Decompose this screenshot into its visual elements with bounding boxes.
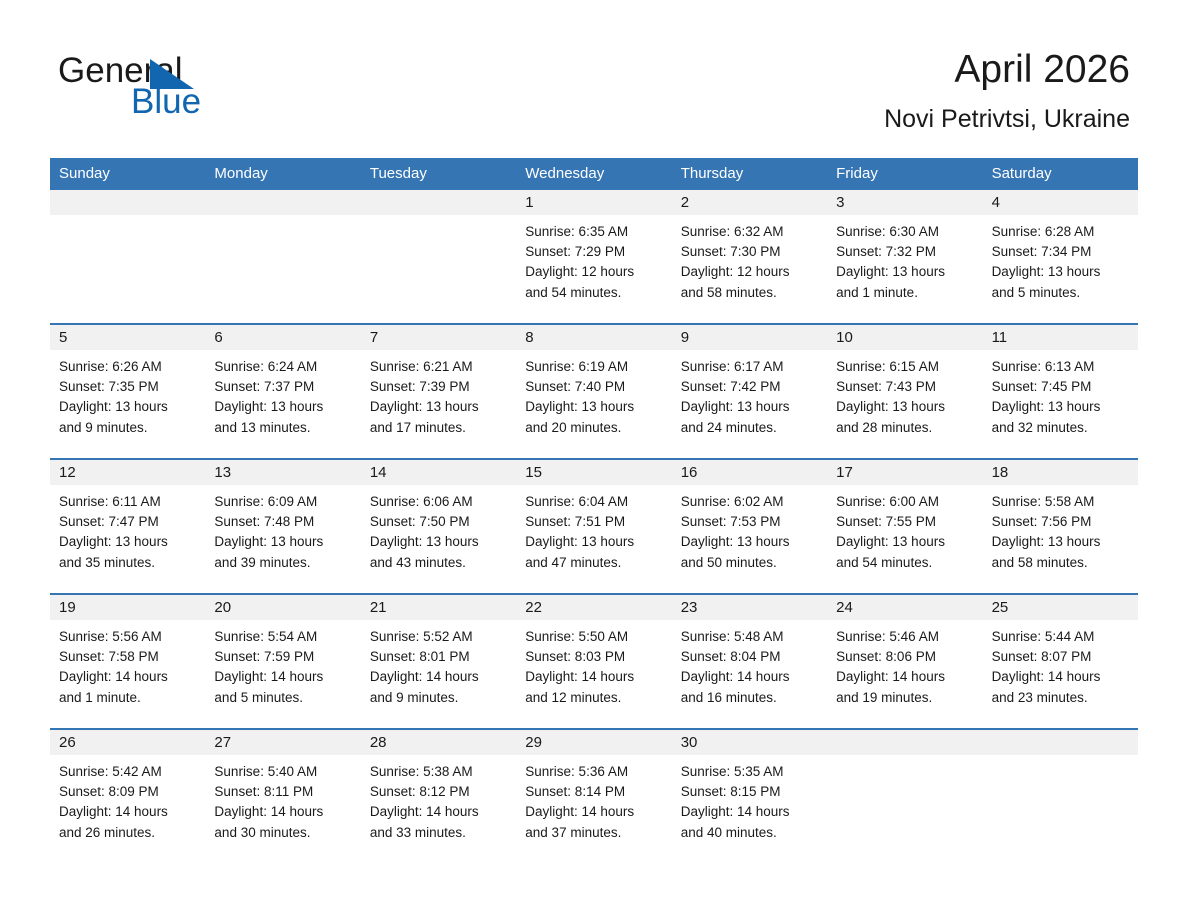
day-detail-line: Sunrise: 5:56 AM — [59, 627, 196, 647]
day-details: Sunrise: 5:46 AMSunset: 8:06 PMDaylight:… — [827, 620, 982, 708]
day-number-band: 18 — [983, 460, 1138, 485]
day-details: Sunrise: 5:58 AMSunset: 7:56 PMDaylight:… — [983, 485, 1138, 573]
day-detail-line: and 33 minutes. — [370, 823, 507, 843]
day-detail-line: Sunrise: 6:09 AM — [214, 492, 351, 512]
calendar-day-cell-empty — [361, 190, 516, 323]
day-detail-line: Sunset: 8:11 PM — [214, 782, 351, 802]
weekday-header-wednesday: Wednesday — [516, 158, 671, 188]
day-details: Sunrise: 5:56 AMSunset: 7:58 PMDaylight:… — [50, 620, 205, 708]
calendar-day-cell[interactable]: 27Sunrise: 5:40 AMSunset: 8:11 PMDayligh… — [205, 730, 360, 863]
day-detail-line: Daylight: 13 hours — [992, 397, 1129, 417]
day-details: Sunrise: 6:06 AMSunset: 7:50 PMDaylight:… — [361, 485, 516, 573]
weekday-header-monday: Monday — [205, 158, 360, 188]
day-number: 11 — [992, 329, 1008, 347]
title-block: April 2026 Novi Petrivtsi, Ukraine — [884, 46, 1130, 134]
day-number-band: 8 — [516, 325, 671, 350]
day-number: 20 — [214, 599, 231, 617]
brand-logo[interactable]: General Blue — [58, 52, 298, 132]
day-number: 7 — [370, 329, 378, 347]
day-detail-line: Sunset: 7:32 PM — [836, 242, 973, 262]
calendar-day-cell[interactable]: 20Sunrise: 5:54 AMSunset: 7:59 PMDayligh… — [205, 595, 360, 728]
day-number-band: 25 — [983, 595, 1138, 620]
day-detail-line: Daylight: 13 hours — [681, 532, 818, 552]
day-detail-line: and 13 minutes. — [214, 418, 351, 438]
day-number: 18 — [992, 464, 1009, 482]
day-number-band: 13 — [205, 460, 360, 485]
day-number-band: 16 — [672, 460, 827, 485]
day-number: 14 — [370, 464, 387, 482]
day-details: Sunrise: 6:04 AMSunset: 7:51 PMDaylight:… — [516, 485, 671, 573]
day-detail-line: Sunrise: 6:17 AM — [681, 357, 818, 377]
day-detail-line: and 1 minute. — [836, 283, 973, 303]
day-detail-line: Sunrise: 6:24 AM — [214, 357, 351, 377]
day-details: Sunrise: 5:54 AMSunset: 7:59 PMDaylight:… — [205, 620, 360, 708]
day-number-band: 1 — [516, 190, 671, 215]
calendar-day-cell[interactable]: 13Sunrise: 6:09 AMSunset: 7:48 PMDayligh… — [205, 460, 360, 593]
day-number-band: 29 — [516, 730, 671, 755]
calendar-day-cell[interactable]: 29Sunrise: 5:36 AMSunset: 8:14 PMDayligh… — [516, 730, 671, 863]
calendar-day-cell[interactable]: 28Sunrise: 5:38 AMSunset: 8:12 PMDayligh… — [361, 730, 516, 863]
calendar-week-row: 19Sunrise: 5:56 AMSunset: 7:58 PMDayligh… — [50, 593, 1138, 728]
calendar-day-cell[interactable]: 11Sunrise: 6:13 AMSunset: 7:45 PMDayligh… — [983, 325, 1138, 458]
day-detail-line: Sunset: 7:50 PM — [370, 512, 507, 532]
day-details: Sunrise: 6:17 AMSunset: 7:42 PMDaylight:… — [672, 350, 827, 438]
day-number-band: 30 — [672, 730, 827, 755]
day-detail-line: Sunset: 7:30 PM — [681, 242, 818, 262]
day-detail-line: Sunset: 7:48 PM — [214, 512, 351, 532]
day-detail-line: Sunrise: 6:30 AM — [836, 222, 973, 242]
day-number: 28 — [370, 734, 387, 752]
day-detail-line: and 40 minutes. — [681, 823, 818, 843]
day-detail-line: Sunset: 8:04 PM — [681, 647, 818, 667]
day-detail-line: Daylight: 14 hours — [681, 802, 818, 822]
day-detail-line: Sunset: 7:51 PM — [525, 512, 662, 532]
day-detail-line: Sunrise: 6:21 AM — [370, 357, 507, 377]
day-detail-line: and 54 minutes. — [836, 553, 973, 573]
day-detail-line: and 47 minutes. — [525, 553, 662, 573]
calendar-day-cell[interactable]: 9Sunrise: 6:17 AMSunset: 7:42 PMDaylight… — [672, 325, 827, 458]
day-details: Sunrise: 5:44 AMSunset: 8:07 PMDaylight:… — [983, 620, 1138, 708]
day-detail-line: Daylight: 14 hours — [525, 667, 662, 687]
day-detail-line: Sunrise: 5:38 AM — [370, 762, 507, 782]
day-number-band: 2 — [672, 190, 827, 215]
day-details: Sunrise: 6:11 AMSunset: 7:47 PMDaylight:… — [50, 485, 205, 573]
day-details: Sunrise: 5:35 AMSunset: 8:15 PMDaylight:… — [672, 755, 827, 843]
day-number-band — [827, 730, 982, 755]
day-number-band: 21 — [361, 595, 516, 620]
day-number: 19 — [59, 599, 76, 617]
calendar-day-cell[interactable]: 12Sunrise: 6:11 AMSunset: 7:47 PMDayligh… — [50, 460, 205, 593]
day-detail-line: Sunrise: 5:40 AM — [214, 762, 351, 782]
day-number-band: 5 — [50, 325, 205, 350]
day-details: Sunrise: 5:42 AMSunset: 8:09 PMDaylight:… — [50, 755, 205, 843]
day-number-band: 11 — [983, 325, 1138, 350]
day-detail-line: Daylight: 13 hours — [992, 262, 1129, 282]
calendar-week-grid: 1Sunrise: 6:35 AMSunset: 7:29 PMDaylight… — [50, 190, 1138, 323]
day-detail-line: Daylight: 14 hours — [992, 667, 1129, 687]
day-detail-line: Sunrise: 6:02 AM — [681, 492, 818, 512]
day-detail-line: Sunrise: 5:44 AM — [992, 627, 1129, 647]
day-detail-line: and 43 minutes. — [370, 553, 507, 573]
day-details: Sunrise: 6:30 AMSunset: 7:32 PMDaylight:… — [827, 215, 982, 303]
calendar-day-cell[interactable]: 5Sunrise: 6:26 AMSunset: 7:35 PMDaylight… — [50, 325, 205, 458]
day-detail-line: Sunset: 8:12 PM — [370, 782, 507, 802]
day-number: 4 — [992, 194, 1000, 212]
calendar-page: General Blue April 2026 Novi Petrivtsi, … — [0, 0, 1188, 918]
day-detail-line: Daylight: 14 hours — [370, 667, 507, 687]
day-detail-line: Sunset: 8:06 PM — [836, 647, 973, 667]
day-number: 25 — [992, 599, 1009, 617]
day-detail-line: and 28 minutes. — [836, 418, 973, 438]
day-detail-line: Sunset: 7:29 PM — [525, 242, 662, 262]
page-subtitle: Novi Petrivtsi, Ukraine — [884, 104, 1130, 134]
day-detail-line: and 23 minutes. — [992, 688, 1129, 708]
day-detail-line: Daylight: 14 hours — [525, 802, 662, 822]
day-number: 24 — [836, 599, 853, 617]
calendar-day-cell[interactable]: 24Sunrise: 5:46 AMSunset: 8:06 PMDayligh… — [827, 595, 982, 728]
calendar-week-row: 26Sunrise: 5:42 AMSunset: 8:09 PMDayligh… — [50, 728, 1138, 863]
day-detail-line: Sunrise: 6:28 AM — [992, 222, 1129, 242]
day-detail-line: Sunset: 7:58 PM — [59, 647, 196, 667]
day-detail-line: and 35 minutes. — [59, 553, 196, 573]
day-detail-line: Sunrise: 6:04 AM — [525, 492, 662, 512]
day-detail-line: Daylight: 13 hours — [59, 532, 196, 552]
day-number: 6 — [214, 329, 222, 347]
day-detail-line: and 26 minutes. — [59, 823, 196, 843]
day-detail-line: Daylight: 13 hours — [836, 532, 973, 552]
day-detail-line: Sunrise: 6:19 AM — [525, 357, 662, 377]
day-detail-line: Sunset: 7:39 PM — [370, 377, 507, 397]
weekday-header-thursday: Thursday — [672, 158, 827, 188]
day-number: 13 — [214, 464, 231, 482]
page-header: General Blue April 2026 Novi Petrivtsi, … — [0, 0, 1188, 150]
weekday-header-row: SundayMondayTuesdayWednesdayThursdayFrid… — [50, 158, 1138, 188]
day-number-band — [361, 190, 516, 215]
day-details: Sunrise: 6:28 AMSunset: 7:34 PMDaylight:… — [983, 215, 1138, 303]
day-detail-line: Daylight: 14 hours — [370, 802, 507, 822]
day-details: Sunrise: 6:13 AMSunset: 7:45 PMDaylight:… — [983, 350, 1138, 438]
day-detail-line: Sunset: 8:03 PM — [525, 647, 662, 667]
day-detail-line: Sunset: 7:37 PM — [214, 377, 351, 397]
day-detail-line: Sunset: 7:47 PM — [59, 512, 196, 532]
weekday-header-saturday: Saturday — [983, 158, 1138, 188]
day-details: Sunrise: 5:40 AMSunset: 8:11 PMDaylight:… — [205, 755, 360, 843]
day-number: 29 — [525, 734, 542, 752]
day-number-band: 6 — [205, 325, 360, 350]
day-detail-line: and 58 minutes. — [681, 283, 818, 303]
day-detail-line: Daylight: 13 hours — [836, 262, 973, 282]
day-details: Sunrise: 5:36 AMSunset: 8:14 PMDaylight:… — [516, 755, 671, 843]
day-detail-line: Daylight: 14 hours — [836, 667, 973, 687]
calendar-week-row: 1Sunrise: 6:35 AMSunset: 7:29 PMDaylight… — [50, 188, 1138, 323]
day-detail-line: Sunrise: 6:35 AM — [525, 222, 662, 242]
calendar-day-cell[interactable]: 19Sunrise: 5:56 AMSunset: 7:58 PMDayligh… — [50, 595, 205, 728]
calendar-day-cell[interactable]: 23Sunrise: 5:48 AMSunset: 8:04 PMDayligh… — [672, 595, 827, 728]
day-detail-line: Sunset: 7:53 PM — [681, 512, 818, 532]
day-detail-line: Sunset: 7:45 PM — [992, 377, 1129, 397]
day-detail-line: Sunset: 7:40 PM — [525, 377, 662, 397]
day-details: Sunrise: 6:32 AMSunset: 7:30 PMDaylight:… — [672, 215, 827, 303]
day-number-band: 4 — [983, 190, 1138, 215]
day-detail-line: Daylight: 13 hours — [525, 532, 662, 552]
day-detail-line: and 30 minutes. — [214, 823, 351, 843]
day-details: Sunrise: 5:50 AMSunset: 8:03 PMDaylight:… — [516, 620, 671, 708]
day-number: 23 — [681, 599, 698, 617]
day-detail-line: and 5 minutes. — [214, 688, 351, 708]
day-number: 12 — [59, 464, 76, 482]
day-detail-line: Sunrise: 6:32 AM — [681, 222, 818, 242]
day-number-band: 12 — [50, 460, 205, 485]
day-detail-line: Sunrise: 5:48 AM — [681, 627, 818, 647]
day-detail-line: and 58 minutes. — [992, 553, 1129, 573]
day-number: 22 — [525, 599, 542, 617]
calendar-day-cell[interactable]: 15Sunrise: 6:04 AMSunset: 7:51 PMDayligh… — [516, 460, 671, 593]
day-number-band: 24 — [827, 595, 982, 620]
day-detail-line: and 37 minutes. — [525, 823, 662, 843]
day-detail-line: Sunrise: 5:35 AM — [681, 762, 818, 782]
day-number: 15 — [525, 464, 542, 482]
calendar-day-cell-empty — [205, 190, 360, 323]
day-number-band: 14 — [361, 460, 516, 485]
day-number: 9 — [681, 329, 689, 347]
day-number-band: 19 — [50, 595, 205, 620]
calendar-day-cell[interactable]: 6Sunrise: 6:24 AMSunset: 7:37 PMDaylight… — [205, 325, 360, 458]
calendar-week-grid: 26Sunrise: 5:42 AMSunset: 8:09 PMDayligh… — [50, 730, 1138, 863]
calendar-day-cell-empty — [983, 730, 1138, 863]
day-detail-line: and 16 minutes. — [681, 688, 818, 708]
day-detail-line: Sunrise: 5:36 AM — [525, 762, 662, 782]
day-detail-line: Sunset: 7:35 PM — [59, 377, 196, 397]
day-details: Sunrise: 6:35 AMSunset: 7:29 PMDaylight:… — [516, 215, 671, 303]
day-number-band: 3 — [827, 190, 982, 215]
day-detail-line: Daylight: 13 hours — [214, 397, 351, 417]
calendar-day-cell[interactable]: 16Sunrise: 6:02 AMSunset: 7:53 PMDayligh… — [672, 460, 827, 593]
day-detail-line: Daylight: 14 hours — [681, 667, 818, 687]
day-number: 27 — [214, 734, 231, 752]
day-detail-line: Sunset: 8:14 PM — [525, 782, 662, 802]
day-detail-line: Daylight: 14 hours — [214, 802, 351, 822]
day-detail-line: Daylight: 12 hours — [525, 262, 662, 282]
calendar-day-cell[interactable]: 3Sunrise: 6:30 AMSunset: 7:32 PMDaylight… — [827, 190, 982, 323]
day-detail-line: Sunset: 7:55 PM — [836, 512, 973, 532]
day-detail-line: and 9 minutes. — [59, 418, 196, 438]
day-detail-line: Daylight: 13 hours — [836, 397, 973, 417]
day-number: 5 — [59, 329, 67, 347]
day-detail-line: Daylight: 14 hours — [214, 667, 351, 687]
day-detail-line: Sunset: 7:56 PM — [992, 512, 1129, 532]
day-details: Sunrise: 6:26 AMSunset: 7:35 PMDaylight:… — [50, 350, 205, 438]
day-detail-line: Sunrise: 6:06 AM — [370, 492, 507, 512]
day-number: 8 — [525, 329, 533, 347]
calendar-day-cell[interactable]: 26Sunrise: 5:42 AMSunset: 8:09 PMDayligh… — [50, 730, 205, 863]
day-detail-line: Sunset: 7:42 PM — [681, 377, 818, 397]
day-detail-line: Daylight: 13 hours — [370, 397, 507, 417]
day-number-band — [50, 190, 205, 215]
day-detail-line: Sunset: 8:09 PM — [59, 782, 196, 802]
day-number: 26 — [59, 734, 76, 752]
calendar-day-cell[interactable]: 10Sunrise: 6:15 AMSunset: 7:43 PMDayligh… — [827, 325, 982, 458]
calendar-day-cell[interactable]: 21Sunrise: 5:52 AMSunset: 8:01 PMDayligh… — [361, 595, 516, 728]
calendar-week-grid: 5Sunrise: 6:26 AMSunset: 7:35 PMDaylight… — [50, 325, 1138, 458]
day-detail-line: and 54 minutes. — [525, 283, 662, 303]
day-number-band: 26 — [50, 730, 205, 755]
day-details: Sunrise: 5:38 AMSunset: 8:12 PMDaylight:… — [361, 755, 516, 843]
day-detail-line: and 32 minutes. — [992, 418, 1129, 438]
day-detail-line: Sunset: 8:01 PM — [370, 647, 507, 667]
day-number-band — [205, 190, 360, 215]
day-number-band: 17 — [827, 460, 982, 485]
day-number-band — [983, 730, 1138, 755]
day-number: 1 — [525, 194, 533, 212]
calendar-week-row: 12Sunrise: 6:11 AMSunset: 7:47 PMDayligh… — [50, 458, 1138, 593]
day-detail-line: Sunrise: 6:00 AM — [836, 492, 973, 512]
brand-word-blue: Blue — [131, 83, 201, 121]
day-number: 2 — [681, 194, 689, 212]
day-details: Sunrise: 6:19 AMSunset: 7:40 PMDaylight:… — [516, 350, 671, 438]
day-detail-line: Sunrise: 6:13 AM — [992, 357, 1129, 377]
day-detail-line: Sunset: 8:15 PM — [681, 782, 818, 802]
day-details: Sunrise: 6:09 AMSunset: 7:48 PMDaylight:… — [205, 485, 360, 573]
calendar-day-cell[interactable]: 14Sunrise: 6:06 AMSunset: 7:50 PMDayligh… — [361, 460, 516, 593]
calendar-week-grid: 12Sunrise: 6:11 AMSunset: 7:47 PMDayligh… — [50, 460, 1138, 593]
day-number-band: 9 — [672, 325, 827, 350]
day-number-band: 15 — [516, 460, 671, 485]
day-details: Sunrise: 6:21 AMSunset: 7:39 PMDaylight:… — [361, 350, 516, 438]
day-detail-line: and 50 minutes. — [681, 553, 818, 573]
day-detail-line: and 9 minutes. — [370, 688, 507, 708]
day-number-band: 7 — [361, 325, 516, 350]
day-detail-line: Daylight: 14 hours — [59, 802, 196, 822]
day-detail-line: Daylight: 13 hours — [214, 532, 351, 552]
day-detail-line: and 24 minutes. — [681, 418, 818, 438]
day-detail-line: Sunset: 7:34 PM — [992, 242, 1129, 262]
day-detail-line: Daylight: 12 hours — [681, 262, 818, 282]
day-detail-line: Sunrise: 6:15 AM — [836, 357, 973, 377]
day-detail-line: Daylight: 13 hours — [992, 532, 1129, 552]
calendar-day-cell[interactable]: 25Sunrise: 5:44 AMSunset: 8:07 PMDayligh… — [983, 595, 1138, 728]
calendar-day-cell[interactable]: 18Sunrise: 5:58 AMSunset: 7:56 PMDayligh… — [983, 460, 1138, 593]
day-detail-line: Daylight: 13 hours — [370, 532, 507, 552]
page-title: April 2026 — [884, 46, 1130, 94]
calendar-weeks: 1Sunrise: 6:35 AMSunset: 7:29 PMDaylight… — [50, 188, 1138, 863]
day-number: 3 — [836, 194, 844, 212]
day-number-band: 20 — [205, 595, 360, 620]
day-details: Sunrise: 6:15 AMSunset: 7:43 PMDaylight:… — [827, 350, 982, 438]
day-detail-line: Sunset: 7:59 PM — [214, 647, 351, 667]
day-number: 21 — [370, 599, 387, 617]
day-detail-line: Sunrise: 6:11 AM — [59, 492, 196, 512]
day-detail-line: Sunrise: 5:54 AM — [214, 627, 351, 647]
day-number: 30 — [681, 734, 698, 752]
day-detail-line: and 39 minutes. — [214, 553, 351, 573]
day-number: 17 — [836, 464, 853, 482]
day-detail-line: and 1 minute. — [59, 688, 196, 708]
day-number-band: 23 — [672, 595, 827, 620]
day-detail-line: Sunrise: 5:52 AM — [370, 627, 507, 647]
day-number-band: 10 — [827, 325, 982, 350]
calendar-day-cell[interactable]: 2Sunrise: 6:32 AMSunset: 7:30 PMDaylight… — [672, 190, 827, 323]
weekday-header-sunday: Sunday — [50, 158, 205, 188]
day-detail-line: Sunrise: 5:46 AM — [836, 627, 973, 647]
day-detail-line: Sunrise: 5:50 AM — [525, 627, 662, 647]
day-detail-line: and 20 minutes. — [525, 418, 662, 438]
day-detail-line: Daylight: 13 hours — [59, 397, 196, 417]
calendar-week-row: 5Sunrise: 6:26 AMSunset: 7:35 PMDaylight… — [50, 323, 1138, 458]
calendar-day-cell[interactable]: 30Sunrise: 5:35 AMSunset: 8:15 PMDayligh… — [672, 730, 827, 863]
day-detail-line: and 12 minutes. — [525, 688, 662, 708]
day-number-band: 22 — [516, 595, 671, 620]
day-detail-line: and 5 minutes. — [992, 283, 1129, 303]
day-number-band: 27 — [205, 730, 360, 755]
day-detail-line: Sunrise: 5:58 AM — [992, 492, 1129, 512]
day-details: Sunrise: 5:52 AMSunset: 8:01 PMDaylight:… — [361, 620, 516, 708]
calendar-day-cell[interactable]: 7Sunrise: 6:21 AMSunset: 7:39 PMDaylight… — [361, 325, 516, 458]
calendar-day-cell-empty — [827, 730, 982, 863]
day-detail-line: and 17 minutes. — [370, 418, 507, 438]
day-number-band: 28 — [361, 730, 516, 755]
day-detail-line: Daylight: 13 hours — [525, 397, 662, 417]
day-detail-line: Sunset: 7:43 PM — [836, 377, 973, 397]
calendar-day-cell[interactable]: 8Sunrise: 6:19 AMSunset: 7:40 PMDaylight… — [516, 325, 671, 458]
day-detail-line: and 19 minutes. — [836, 688, 973, 708]
calendar-week-grid: 19Sunrise: 5:56 AMSunset: 7:58 PMDayligh… — [50, 595, 1138, 728]
day-number: 10 — [836, 329, 853, 347]
day-detail-line: Daylight: 14 hours — [59, 667, 196, 687]
day-number: 16 — [681, 464, 698, 482]
day-details: Sunrise: 6:02 AMSunset: 7:53 PMDaylight:… — [672, 485, 827, 573]
day-detail-line: Sunset: 8:07 PM — [992, 647, 1129, 667]
calendar-day-cell[interactable]: 4Sunrise: 6:28 AMSunset: 7:34 PMDaylight… — [983, 190, 1138, 323]
weekday-header-friday: Friday — [827, 158, 982, 188]
day-detail-line: Sunrise: 5:42 AM — [59, 762, 196, 782]
calendar-day-cell[interactable]: 1Sunrise: 6:35 AMSunset: 7:29 PMDaylight… — [516, 190, 671, 323]
day-details: Sunrise: 5:48 AMSunset: 8:04 PMDaylight:… — [672, 620, 827, 708]
calendar-day-cell[interactable]: 17Sunrise: 6:00 AMSunset: 7:55 PMDayligh… — [827, 460, 982, 593]
day-detail-line: Daylight: 13 hours — [681, 397, 818, 417]
calendar-grid: SundayMondayTuesdayWednesdayThursdayFrid… — [50, 158, 1138, 863]
day-detail-line: Sunrise: 6:26 AM — [59, 357, 196, 377]
weekday-header-tuesday: Tuesday — [361, 158, 516, 188]
day-details: Sunrise: 6:00 AMSunset: 7:55 PMDaylight:… — [827, 485, 982, 573]
calendar-day-cell[interactable]: 22Sunrise: 5:50 AMSunset: 8:03 PMDayligh… — [516, 595, 671, 728]
calendar-day-cell-empty — [50, 190, 205, 323]
day-details: Sunrise: 6:24 AMSunset: 7:37 PMDaylight:… — [205, 350, 360, 438]
